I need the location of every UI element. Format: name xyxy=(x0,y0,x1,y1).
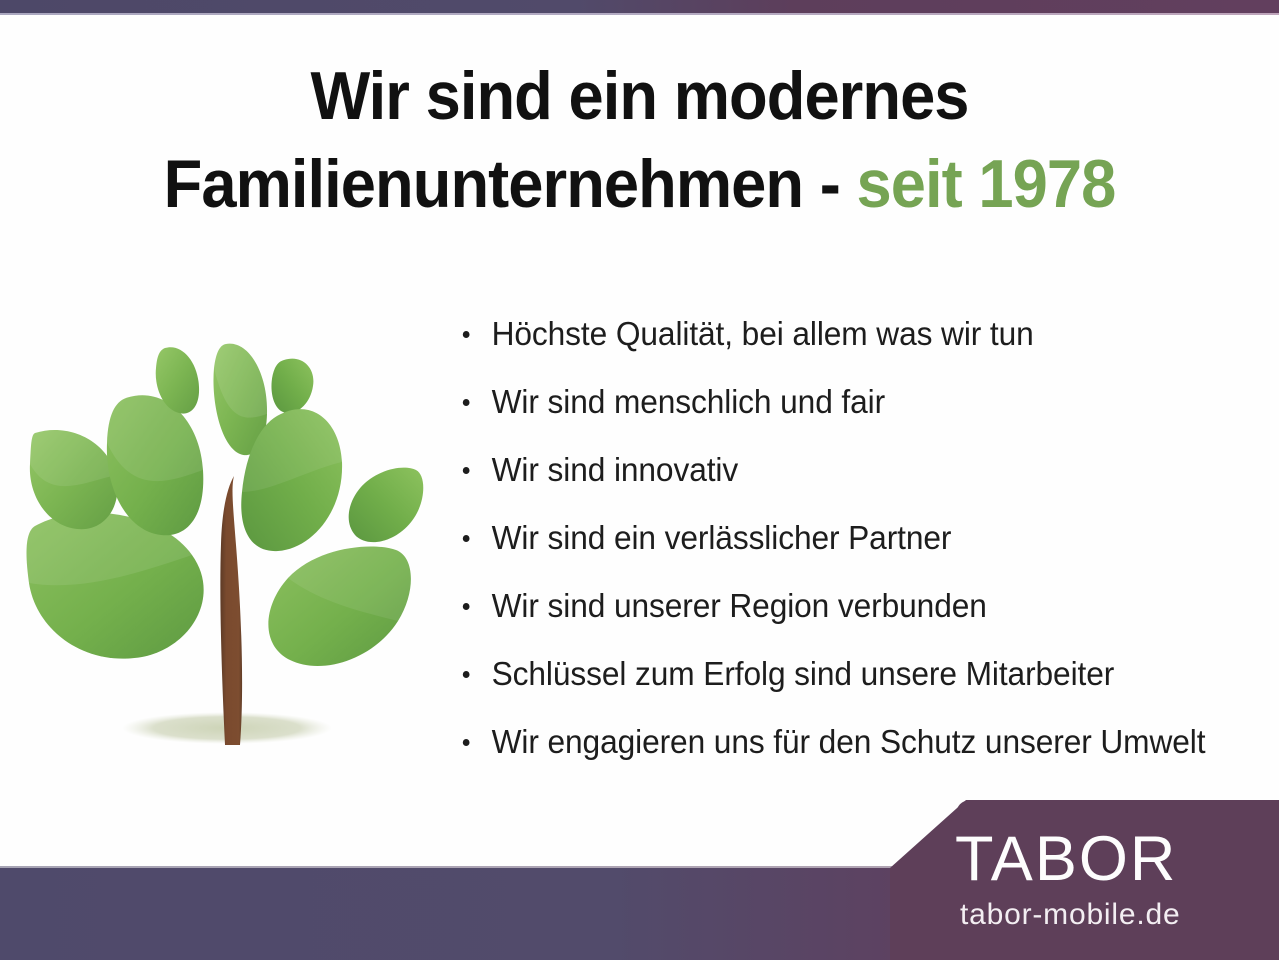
bullet-dot-icon xyxy=(463,467,470,474)
list-item-label: Wir sind ein verlässlicher Partner xyxy=(492,519,952,556)
tree-trunk xyxy=(220,476,242,745)
list-item: Schlüssel zum Erfolg sind unsere Mitarbe… xyxy=(458,640,1236,708)
headline-line-2: Familienunternehmen - seit 1978 xyxy=(45,140,1234,228)
list-item-label: Wir engagieren uns für den Schutz unsere… xyxy=(492,723,1206,760)
tree-illustration xyxy=(22,330,442,760)
tree-illustration-svg xyxy=(22,330,442,760)
list-item-label: Wir sind unserer Region verbunden xyxy=(492,587,987,624)
list-item: Wir sind ein verlässlicher Partner xyxy=(458,504,1236,572)
list-item: Höchste Qualität, bei allem was wir tun xyxy=(458,300,1236,368)
list-item-label: Wir sind menschlich und fair xyxy=(492,383,885,420)
top-accent-hairline xyxy=(0,13,1279,15)
tree-leaf-mid-right xyxy=(349,468,424,543)
list-item-label: Schlüssel zum Erfolg sind unsere Mitarbe… xyxy=(492,655,1115,692)
headline-line-1: Wir sind ein modernes xyxy=(45,52,1234,140)
logo-panel-corner xyxy=(956,800,990,822)
list-item-label: Höchste Qualität, bei allem was wir tun xyxy=(492,315,1034,352)
page-title: Wir sind ein modernes Familienunternehme… xyxy=(45,52,1234,228)
bullet-dot-icon xyxy=(463,739,470,746)
bullet-dot-icon xyxy=(463,603,470,610)
tree-leaf-top-small-right xyxy=(271,359,313,414)
list-item: Wir sind menschlich und fair xyxy=(458,368,1236,436)
bullet-dot-icon xyxy=(463,331,470,338)
slide: Wir sind ein modernes Familienunternehme… xyxy=(0,0,1279,960)
list-item: Wir engagieren uns für den Schutz unsere… xyxy=(458,708,1236,776)
value-list: Höchste Qualität, bei allem was wir tun … xyxy=(458,300,1268,776)
logo-panel xyxy=(890,800,1279,960)
bullet-dot-icon xyxy=(463,671,470,678)
list-item: Wir sind unserer Region verbunden xyxy=(458,572,1236,640)
headline-accent-year: seit 1978 xyxy=(856,146,1115,222)
headline-line-2-plain: Familienunternehmen - xyxy=(164,146,857,222)
list-item: Wir sind innovativ xyxy=(458,436,1236,504)
bullet-dot-icon xyxy=(463,535,470,542)
bullet-dot-icon xyxy=(463,399,470,406)
top-accent-bar xyxy=(0,0,1279,13)
list-item-label: Wir sind innovativ xyxy=(492,451,739,488)
